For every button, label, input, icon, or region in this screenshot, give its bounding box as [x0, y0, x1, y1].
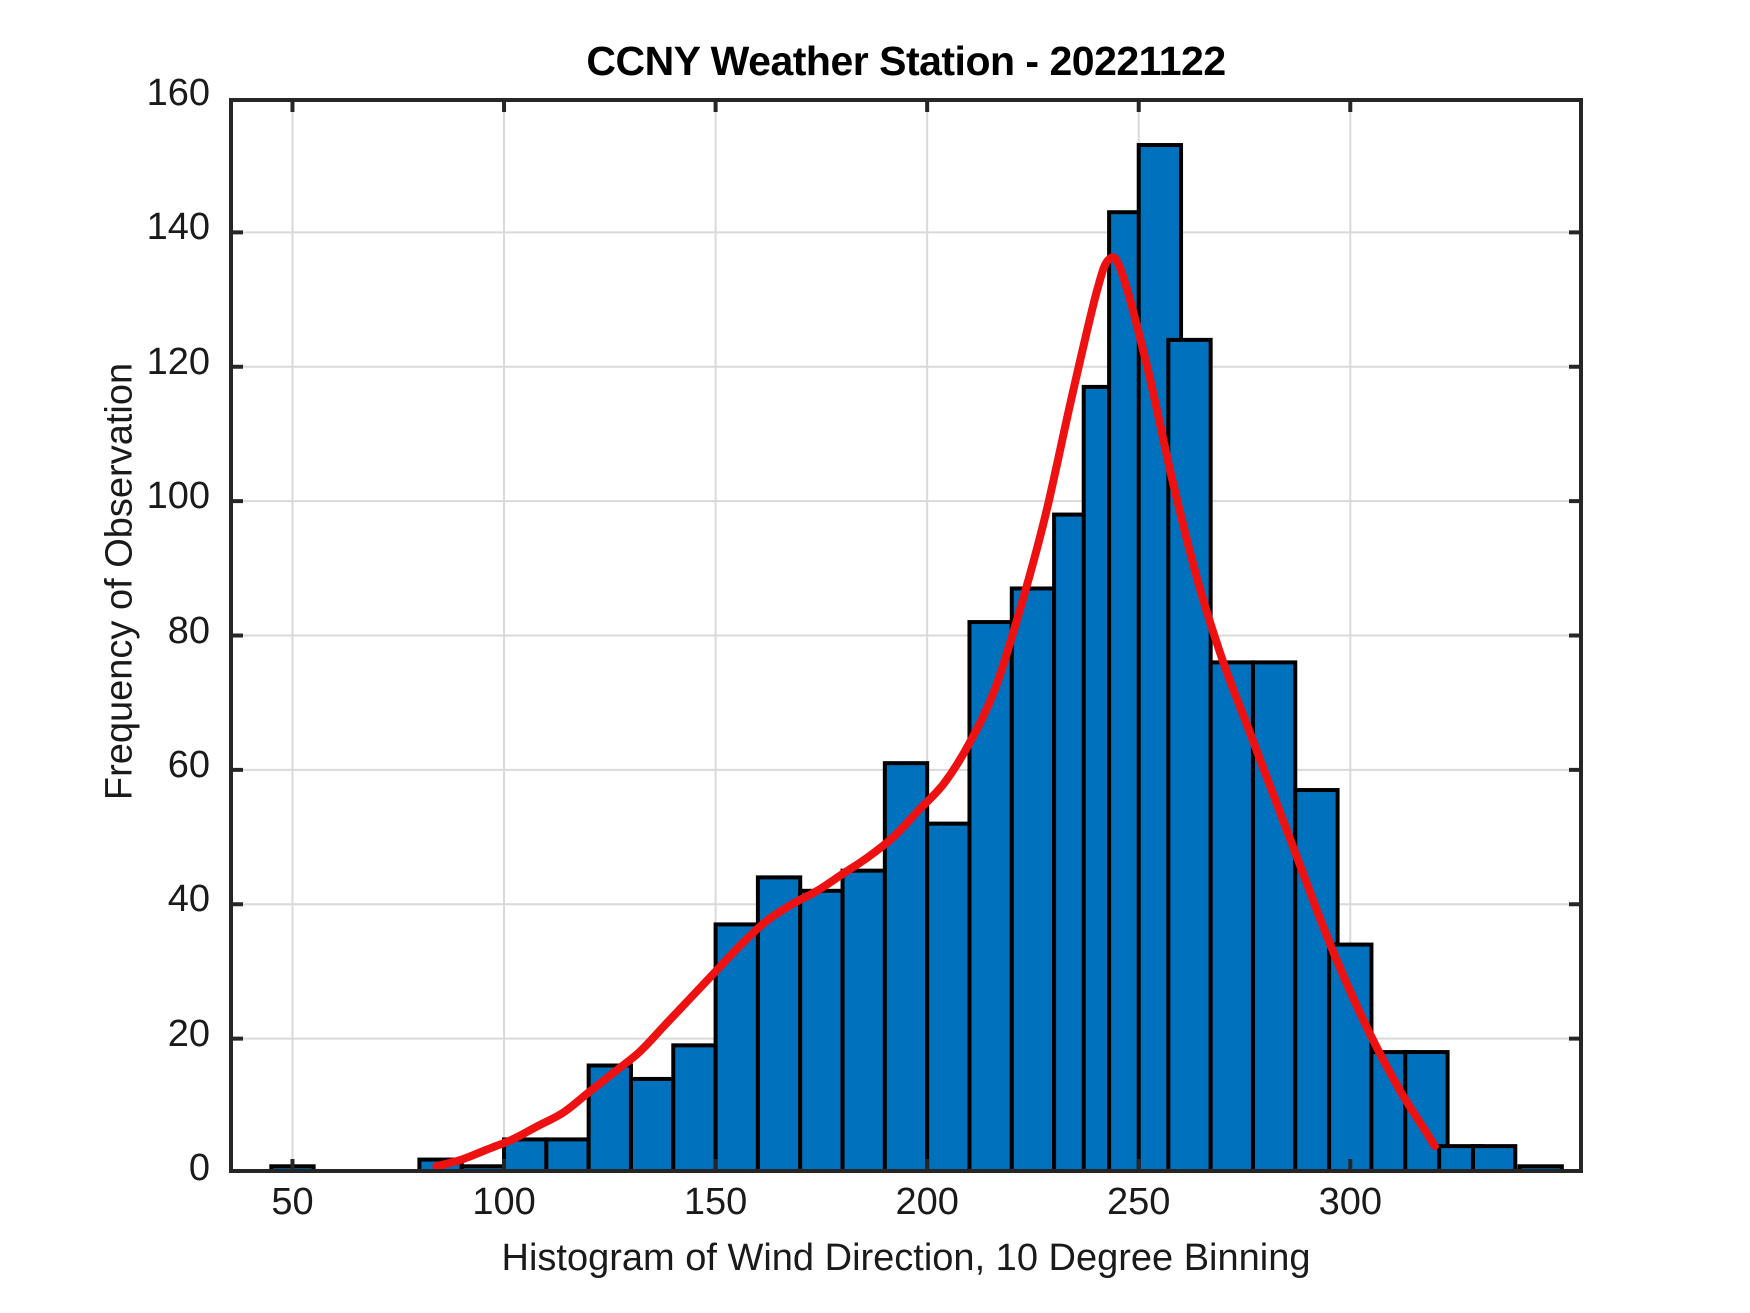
- x-tick-label: 150: [684, 1181, 747, 1224]
- histogram-bar: [1253, 662, 1295, 1173]
- y-tick-label: 140: [147, 206, 210, 249]
- histogram-bar: [1329, 945, 1371, 1173]
- x-tick-label: 50: [271, 1181, 313, 1224]
- histogram-bar: [1520, 1166, 1562, 1173]
- x-axis-label: Histogram of Wind Direction, 10 Degree B…: [229, 1237, 1583, 1280]
- histogram-bar: [1168, 340, 1210, 1173]
- x-tick-label: 250: [1107, 1181, 1170, 1224]
- histogram-bar: [673, 1045, 715, 1173]
- page-title: CCNY Weather Station - 20221122: [229, 38, 1583, 85]
- y-tick-label: 0: [189, 1147, 210, 1190]
- x-axis-ticks: 50100150200250300: [229, 1173, 1583, 1233]
- x-tick-label: 100: [472, 1181, 535, 1224]
- histogram-bar: [1473, 1146, 1515, 1173]
- y-tick-label: 100: [147, 475, 210, 518]
- histogram-bar: [462, 1166, 504, 1173]
- y-tick-label: 60: [168, 744, 210, 787]
- histogram-bar: [546, 1139, 588, 1173]
- histogram-bar: [1012, 588, 1054, 1173]
- chart-figure: CCNY Weather Station - 20221122 Frequenc…: [0, 0, 1750, 1313]
- histogram-bar: [800, 891, 842, 1173]
- x-tick-label: 300: [1319, 1181, 1382, 1224]
- y-tick-label: 40: [168, 878, 210, 921]
- y-tick-label: 160: [147, 72, 210, 115]
- x-tick-label: 200: [895, 1181, 958, 1224]
- histogram-bar: [927, 824, 969, 1173]
- y-tick-label: 20: [168, 1013, 210, 1056]
- histogram-bar: [1211, 662, 1253, 1173]
- plot-area: [229, 98, 1583, 1173]
- histogram-bars: [271, 145, 1562, 1173]
- y-tick-label: 120: [147, 341, 210, 384]
- histogram-svg: [229, 98, 1583, 1173]
- y-axis-ticks: 020406080100120140160: [60, 98, 210, 1173]
- histogram-bar: [589, 1066, 631, 1174]
- histogram-bar: [631, 1079, 673, 1173]
- y-tick-label: 80: [168, 610, 210, 653]
- histogram-bar: [843, 871, 885, 1173]
